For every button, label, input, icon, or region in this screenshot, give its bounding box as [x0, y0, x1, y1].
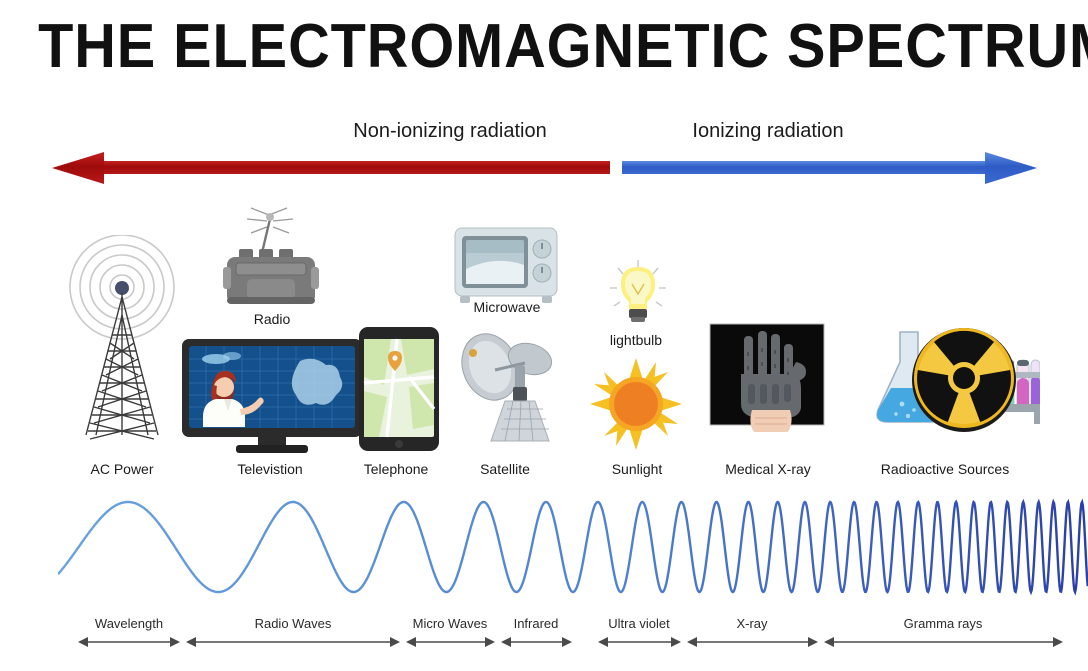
- caption-lightbulb: lightbulb: [556, 332, 716, 348]
- seg-label-xray: X-ray: [652, 616, 852, 631]
- caption-radioactive-sources: Radioactive Sources: [845, 461, 1045, 477]
- seg-label-gramma-rays: Gramma rays: [843, 616, 1043, 631]
- page-title: THE ELECTROMAGNETIC SPECTRUM: [38, 14, 1050, 80]
- caption-radio: Radio: [192, 311, 352, 327]
- caption-microwave: Microwave: [427, 299, 587, 315]
- spectrum-infographic: THE ELECTROMAGNETIC SPECTRUM Non-ionizin…: [0, 0, 1088, 671]
- band-label-ionizing: Ionizing radiation: [668, 120, 868, 143]
- band-label-non-ionizing: Non-ionizing radiation: [330, 120, 570, 143]
- caption-medical-xray: Medical X-ray: [668, 461, 868, 477]
